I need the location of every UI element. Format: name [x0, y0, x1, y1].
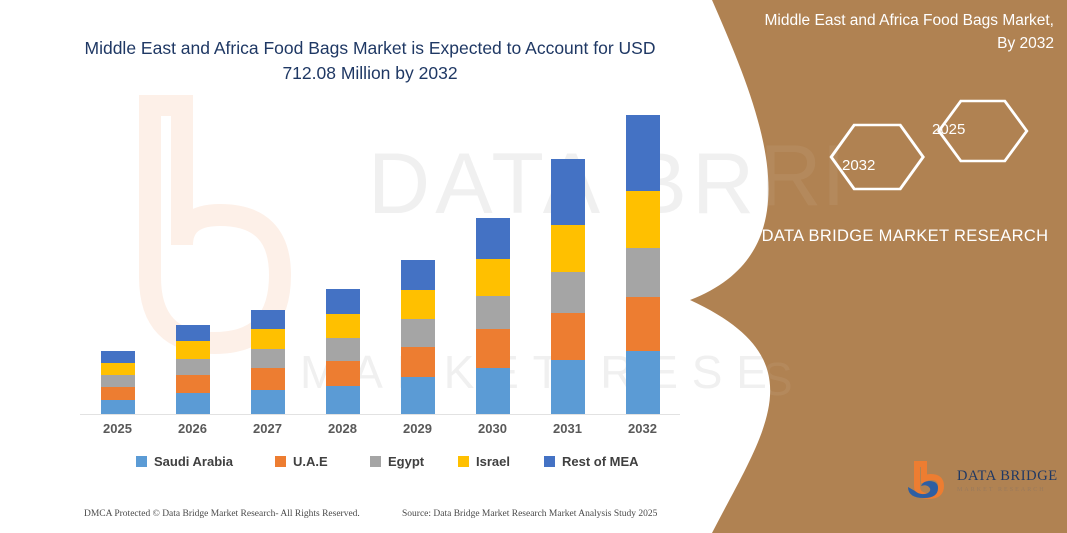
x-axis-label-2029: 2029	[383, 421, 453, 436]
bar-segment-rest-of-mea-2028[interactable]	[326, 289, 360, 314]
bar-segment-u-a-e-2026[interactable]	[176, 375, 210, 393]
bar-segment-u-a-e-2030[interactable]	[476, 329, 510, 368]
bar-group-2025[interactable]	[101, 351, 135, 415]
bar-segment-rest-of-mea-2030[interactable]	[476, 218, 510, 258]
data-bridge-logo-icon	[905, 461, 949, 501]
legend-item-rest-of-mea[interactable]: Rest of MEA	[544, 454, 639, 469]
bar-segment-israel-2026[interactable]	[176, 341, 210, 358]
x-axis-label-2030: 2030	[458, 421, 528, 436]
data-bridge-logo: DATA BRIDGE MARKET RESEARCH	[905, 458, 1055, 504]
bar-segment-israel-2028[interactable]	[326, 314, 360, 338]
bar-group-2031[interactable]	[551, 159, 585, 415]
x-axis-label-2025: 2025	[83, 421, 153, 436]
bar-segment-rest-of-mea-2032[interactable]	[626, 115, 660, 191]
bar-segment-rest-of-mea-2025[interactable]	[101, 351, 135, 363]
bar-segment-saudi-arabia-2032[interactable]	[626, 351, 660, 415]
x-axis-label-2032: 2032	[608, 421, 678, 436]
bar-segment-saudi-arabia-2025[interactable]	[101, 400, 135, 415]
legend-swatch-icon	[458, 456, 469, 467]
legend-item-israel[interactable]: Israel	[458, 454, 510, 469]
bar-group-2027[interactable]	[251, 310, 285, 415]
bar-segment-saudi-arabia-2029[interactable]	[401, 377, 435, 415]
footer-source: Source: Data Bridge Market Research Mark…	[402, 509, 657, 519]
bar-segment-israel-2031[interactable]	[551, 225, 585, 272]
chart-panel: DATA BRIDGE MARKET RESEARCH Middle East …	[0, 0, 740, 533]
legend-swatch-icon	[275, 456, 286, 467]
bar-segment-u-a-e-2025[interactable]	[101, 387, 135, 400]
legend-label: Rest of MEA	[562, 454, 639, 469]
bar-segment-egypt-2025[interactable]	[101, 375, 135, 387]
legend-label: Egypt	[388, 454, 424, 469]
legend-label: Israel	[476, 454, 510, 469]
bar-segment-egypt-2026[interactable]	[176, 359, 210, 375]
legend-label: U.A.E	[293, 454, 328, 469]
bar-segment-israel-2029[interactable]	[401, 290, 435, 319]
chart-title: Middle East and Africa Food Bags Market …	[60, 36, 680, 87]
legend-swatch-icon	[370, 456, 381, 467]
legend-swatch-icon	[544, 456, 555, 467]
bar-segment-egypt-2027[interactable]	[251, 349, 285, 369]
brand-title: Middle East and Africa Food Bags Market,…	[754, 9, 1054, 56]
logo-wordmark: DATA BRIDGE MARKET RESEARCH	[957, 469, 1058, 493]
bar-segment-saudi-arabia-2026[interactable]	[176, 393, 210, 415]
bar-group-2032[interactable]	[626, 115, 660, 415]
x-axis-label-2028: 2028	[308, 421, 378, 436]
chart-legend: Saudi ArabiaU.A.EEgyptIsraelRest of MEA	[80, 454, 680, 476]
brand-panel-content: Middle East and Africa Food Bags Market,…	[740, 0, 1067, 533]
bar-segment-rest-of-mea-2027[interactable]	[251, 310, 285, 330]
bar-segment-u-a-e-2029[interactable]	[401, 347, 435, 377]
legend-item-u-a-e[interactable]: U.A.E	[275, 454, 328, 469]
bar-segment-saudi-arabia-2030[interactable]	[476, 368, 510, 415]
bar-group-2030[interactable]	[476, 218, 510, 415]
bar-segment-egypt-2031[interactable]	[551, 272, 585, 313]
bar-segment-u-a-e-2031[interactable]	[551, 313, 585, 360]
x-axis-label-2031: 2031	[533, 421, 603, 436]
bar-segment-israel-2025[interactable]	[101, 363, 135, 375]
axis-baseline	[80, 414, 680, 415]
bar-segment-egypt-2028[interactable]	[326, 338, 360, 361]
bar-group-2029[interactable]	[401, 260, 435, 415]
brand-name: DATA BRIDGE MARKET RESEARCH	[760, 225, 1050, 249]
infographic-root: DATA BRIDGE MARKET RESEARCH Middle East …	[0, 0, 1067, 533]
bar-segment-israel-2032[interactable]	[626, 191, 660, 247]
footer-copyright: DMCA Protected © Data Bridge Market Rese…	[84, 509, 360, 519]
bar-segment-rest-of-mea-2031[interactable]	[551, 159, 585, 225]
bar-segment-egypt-2029[interactable]	[401, 319, 435, 346]
legend-label: Saudi Arabia	[154, 454, 233, 469]
plot-area	[80, 100, 680, 415]
bar-segment-rest-of-mea-2026[interactable]	[176, 325, 210, 341]
bar-segment-u-a-e-2032[interactable]	[626, 297, 660, 351]
bar-group-2026[interactable]	[176, 325, 210, 415]
bar-segment-saudi-arabia-2031[interactable]	[551, 360, 585, 415]
x-axis-label-2027: 2027	[233, 421, 303, 436]
hexagon-label-2025: 2025	[932, 121, 965, 138]
x-axis-label-2026: 2026	[158, 421, 228, 436]
legend-swatch-icon	[136, 456, 147, 467]
legend-item-egypt[interactable]: Egypt	[370, 454, 424, 469]
bar-segment-israel-2027[interactable]	[251, 329, 285, 349]
bar-segment-saudi-arabia-2028[interactable]	[326, 386, 360, 415]
bar-segment-u-a-e-2027[interactable]	[251, 368, 285, 390]
logo-title: DATA BRIDGE	[957, 469, 1058, 484]
logo-subtitle: MARKET RESEARCH	[957, 487, 1058, 493]
bar-segment-u-a-e-2028[interactable]	[326, 361, 360, 386]
bar-segment-saudi-arabia-2027[interactable]	[251, 390, 285, 415]
hexagon-group: 2032 2025	[810, 95, 1060, 205]
bar-segment-egypt-2032[interactable]	[626, 248, 660, 297]
bar-segment-israel-2030[interactable]	[476, 259, 510, 296]
bar-segment-egypt-2030[interactable]	[476, 296, 510, 330]
x-axis: 20252026202720282029203020312032	[80, 421, 680, 443]
legend-item-saudi-arabia[interactable]: Saudi Arabia	[136, 454, 233, 469]
hexagon-label-2032: 2032	[842, 157, 875, 174]
bar-segment-rest-of-mea-2029[interactable]	[401, 260, 435, 290]
bar-group-2028[interactable]	[326, 289, 360, 415]
